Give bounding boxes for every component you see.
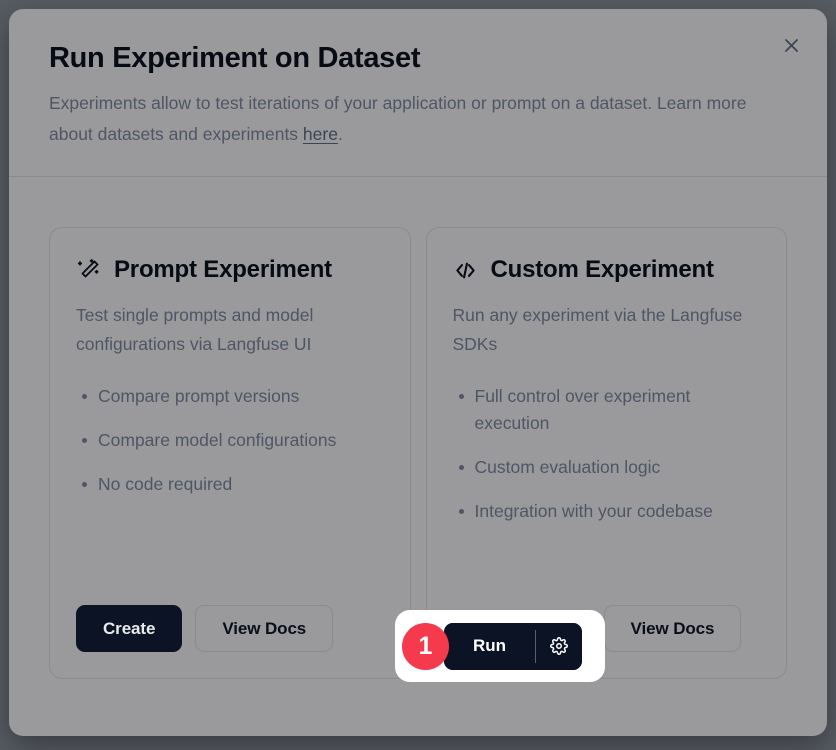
dialog-subtitle-text: Experiments allow to test iterations of …	[49, 93, 746, 144]
gear-icon	[550, 637, 568, 655]
run-experiment-dialog: Run Experiment on Dataset Experiments al…	[9, 9, 827, 736]
dialog-subtitle: Experiments allow to test iterations of …	[49, 88, 749, 150]
list-item: Custom evaluation logic	[475, 454, 761, 481]
list-item: Integration with your codebase	[475, 498, 761, 525]
code-brackets-icon	[453, 257, 479, 283]
close-icon	[782, 36, 801, 55]
page-title: Run Experiment on Dataset	[49, 41, 787, 75]
view-docs-button-prompt[interactable]: View Docs	[195, 605, 333, 652]
tutorial-highlight-overlay: 1 Run	[395, 610, 605, 682]
dialog-body: Prompt Experiment Test single prompts an…	[9, 177, 827, 679]
step-badge: 1	[402, 623, 449, 670]
card-feature-list: Full control over experiment execution C…	[453, 383, 761, 542]
run-settings-button-highlighted[interactable]	[536, 623, 582, 670]
dialog-header: Run Experiment on Dataset Experiments al…	[9, 9, 827, 177]
dialog-subtitle-period: .	[338, 124, 343, 144]
view-docs-button-custom[interactable]: View Docs	[604, 605, 742, 652]
list-item: Full control over experiment execution	[475, 383, 761, 437]
card-feature-list: Compare prompt versions Compare model co…	[76, 383, 384, 515]
card-actions: Create View Docs	[76, 605, 384, 652]
list-item: Compare model configurations	[98, 427, 384, 454]
card-title: Prompt Experiment	[114, 256, 332, 284]
card-header: Prompt Experiment	[76, 256, 384, 284]
magic-wand-icon	[76, 257, 102, 283]
list-item: No code required	[98, 471, 384, 498]
card-header: Custom Experiment	[453, 256, 761, 284]
card-title: Custom Experiment	[491, 256, 714, 284]
card-description: Run any experiment via the Langfuse SDKs	[453, 301, 761, 359]
run-split-button-group-highlighted: Run	[444, 623, 582, 670]
create-button[interactable]: Create	[76, 605, 182, 652]
card-prompt-experiment: Prompt Experiment Test single prompts an…	[49, 227, 411, 679]
card-description: Test single prompts and model configurat…	[76, 301, 384, 359]
learn-more-link[interactable]: here	[303, 124, 338, 144]
run-button-highlighted[interactable]: Run	[444, 623, 535, 670]
close-button[interactable]	[775, 29, 807, 61]
list-item: Compare prompt versions	[98, 383, 384, 410]
